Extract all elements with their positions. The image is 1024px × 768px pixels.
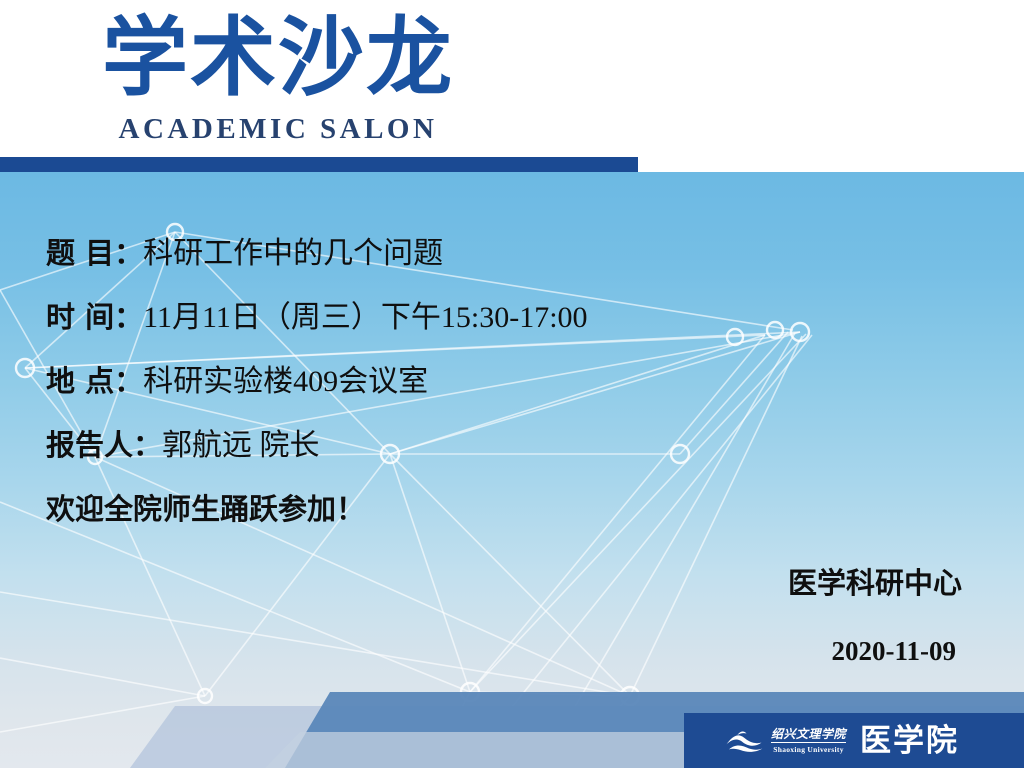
label-speaker: 报告人： bbox=[46, 428, 162, 462]
value-place: 科研实验楼409会议室 bbox=[143, 365, 428, 398]
university-footer-bar: 绍兴文理学院 Shaoxing University 医学院 bbox=[684, 713, 1024, 768]
welcome-message: 欢迎全院师生踊跃参加！ bbox=[46, 486, 365, 528]
notice-line-place: 地 点：科研实验楼409会议室 bbox=[46, 356, 428, 400]
signature-date: 2020-11-09 bbox=[788, 634, 956, 668]
university-name-en: Shaoxing University bbox=[771, 742, 846, 755]
notice-line-time: 时 间：11月11日（周三）下午15:30-17:00 bbox=[46, 292, 588, 336]
university-name-group: 绍兴文理学院 Shaoxing University bbox=[771, 727, 846, 755]
notice-content: 题 目：科研工作中的几个问题 时 间：11月11日（周三）下午15:30-17:… bbox=[0, 172, 1024, 768]
brand-title-cn: 学术沙龙 bbox=[78, 6, 478, 110]
academic-salon-poster: 学术沙龙 ACADEMIC SALON bbox=[0, 0, 1024, 768]
poster-header: 学术沙龙 ACADEMIC SALON bbox=[0, 0, 1024, 172]
label-title: 题 目： bbox=[46, 236, 143, 270]
value-time: 11月11日（周三）下午15:30-17:00 bbox=[143, 301, 587, 334]
header-divider-bar bbox=[0, 157, 638, 172]
poster-body: 题 目：科研工作中的几个问题 时 间：11月11日（周三）下午15:30-17:… bbox=[0, 172, 1024, 768]
signature-block: 医学科研中心 2020-11-09 bbox=[788, 564, 962, 668]
signature-organization: 医学科研中心 bbox=[788, 564, 962, 602]
brand-title-en: ACADEMIC SALON bbox=[78, 112, 478, 146]
college-name: 医学院 bbox=[860, 724, 959, 758]
label-time: 时 间： bbox=[46, 300, 143, 334]
brand-logo: 学术沙龙 ACADEMIC SALON bbox=[78, 6, 478, 146]
notice-line-title: 题 目：科研工作中的几个问题 bbox=[46, 228, 443, 272]
notice-line-speaker: 报告人：郭航远 院长 bbox=[46, 420, 320, 464]
wave-mountain-icon bbox=[724, 728, 764, 754]
university-name-cn: 绍兴文理学院 bbox=[771, 727, 846, 741]
value-speaker: 郭航远 院长 bbox=[162, 429, 320, 462]
label-place: 地 点： bbox=[46, 364, 143, 398]
value-title: 科研工作中的几个问题 bbox=[143, 237, 443, 270]
